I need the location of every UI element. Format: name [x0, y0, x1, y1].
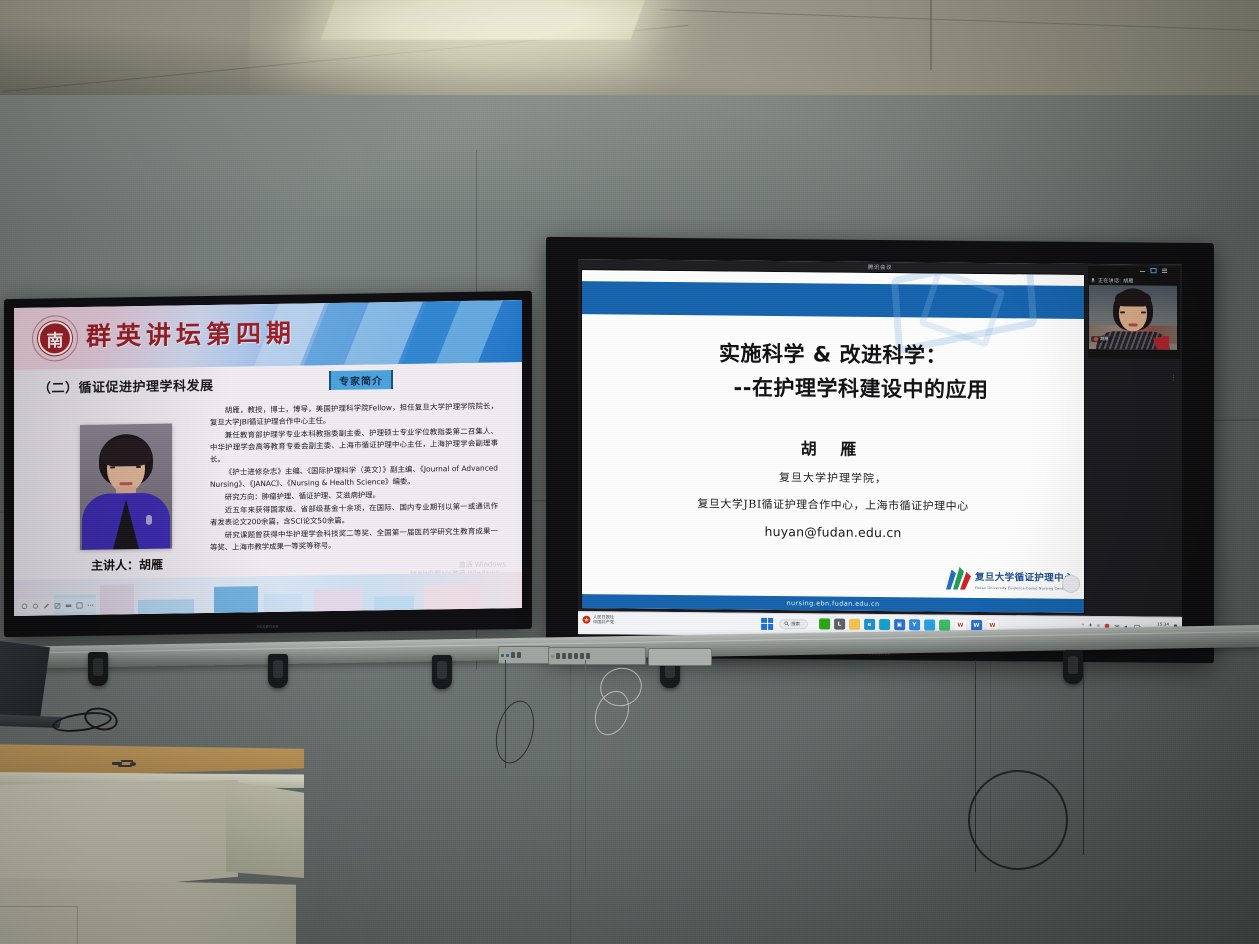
eraser-icon[interactable] [65, 602, 72, 609]
slide-section-title: （二）循证促进护理学科发展 [38, 375, 214, 397]
speaking-label: 正在讲话: 胡雁 [1098, 277, 1134, 284]
mount-bracket [1063, 650, 1083, 684]
speaker-portrait [80, 424, 172, 550]
laser-pointer-icon[interactable] [32, 602, 39, 609]
bio-paragraph: 近五年来获得国家级、省部级基金十余项，在国际、国内专业期刊以第一或通讯作者发表论… [210, 500, 498, 528]
lectern [0, 728, 322, 944]
slide-corner-badge [1062, 575, 1080, 593]
app-weixin[interactable] [819, 618, 830, 629]
slide-email: huyan@fudan.edu.cn [582, 522, 1084, 542]
app-file-explorer[interactable] [849, 619, 860, 630]
mic-muted-icon [1094, 337, 1098, 341]
participant-rail [1088, 364, 1180, 620]
slide-footer-url: nursing.ebn.fudan.edu.cn [786, 599, 879, 608]
av-connector-panel [648, 648, 712, 666]
slide-footer-url-band: nursing.ebn.fudan.edu.cn [582, 594, 1084, 613]
emblem-icon [582, 615, 591, 624]
slide-author: 胡 雁 [582, 433, 1084, 462]
app-explorer[interactable]: L [834, 619, 845, 630]
maximize-icon[interactable] [1150, 268, 1157, 274]
search-icon[interactable] [784, 621, 789, 626]
center-logo: 复旦大学循证护理中心 Fudan University Evidence-bas… [946, 566, 1074, 591]
pointer-icon[interactable] [21, 602, 28, 609]
slide-affiliation-2: 复旦大学JBI循证护理合作中心，上海市循证护理中心 [582, 494, 1084, 515]
more-icon[interactable] [87, 601, 94, 608]
taskbar-branding: 人民日报社 中国共产党 [582, 615, 614, 625]
menu-icon[interactable] [1161, 268, 1168, 274]
left-display-brand: Hisense [257, 624, 279, 630]
mount-bracket [432, 655, 452, 689]
logo-text-en: Fudan University Evidence-based Nursing … [975, 585, 1074, 590]
right-display-screen[interactable]: 腾讯会议 实施科学 & 改进科学： --在护理学科建设中的应用 胡 雁 复旦大学… [578, 259, 1182, 640]
app-wps-note[interactable] [939, 620, 950, 631]
window-controls[interactable] [1139, 267, 1168, 273]
wall-cable [1083, 665, 1084, 855]
expert-profile-badge: 专家简介 [329, 370, 393, 390]
laptop-screen [0, 640, 50, 722]
meeting-window-title: 腾讯会议 [868, 263, 892, 271]
participant-video-tile[interactable]: 胡雁 [1089, 285, 1177, 350]
start-icon[interactable] [761, 617, 773, 629]
lectern-side [226, 774, 304, 878]
participant-video-panel[interactable]: 正在讲话: 胡雁 胡雁 [1088, 266, 1180, 359]
logo-text-cn: 复旦大学循证护理中心 [975, 571, 1074, 583]
key-ring [112, 758, 138, 770]
bio-paragraph: 胡雁，教授，博士，博导，美国护理科学院Fellow，担任复旦大学护理学院院长，复… [210, 400, 498, 428]
app-tencent-meeting[interactable]: Y [909, 619, 920, 630]
bio-paragraph: 研究课题曾获得中华护理学会科技奖二等奖、全国第一届医药学研究生教育成果一等奖、上… [210, 525, 498, 553]
app-edge[interactable]: e [864, 619, 875, 630]
presentation-toolbar[interactable] [17, 598, 98, 613]
branding-line2: 中国共产党 [593, 620, 614, 625]
laptop[interactable] [0, 640, 54, 732]
slide-title-line2: --在护理学科建设中的应用 [582, 370, 1084, 405]
slide-overview-icon[interactable] [76, 601, 83, 608]
app-meeting-circle[interactable] [924, 619, 935, 630]
shared-slide-stage[interactable]: 实施科学 & 改进科学： --在护理学科建设中的应用 胡 雁 复旦大学护理学院，… [582, 270, 1084, 613]
more-vertical-icon[interactable]: ⋮ [1170, 377, 1177, 380]
search-placeholder: 搜索 [791, 621, 800, 627]
ceiling-light-panel [321, 0, 650, 40]
left-display[interactable]: 南 群英讲坛第四期 （二）循证促进护理学科发展 专家简介 [4, 291, 532, 637]
participant-name-chip: 胡雁 [1091, 336, 1111, 342]
speaking-indicator: 正在讲话: 胡雁 [1091, 277, 1134, 284]
mount-bracket [88, 652, 108, 686]
pen-icon[interactable] [43, 602, 50, 609]
wall-cable [585, 660, 586, 875]
lectern-panel-seam [0, 906, 78, 944]
mount-bracket [268, 654, 288, 688]
minimize-icon[interactable] [1139, 267, 1146, 273]
tencent-meeting-window[interactable]: 腾讯会议 实施科学 & 改进科学： --在护理学科建设中的应用 胡 雁 复旦大学… [578, 259, 1182, 640]
microphone-icon [1091, 278, 1095, 283]
fudan-ebn-logo-icon [946, 566, 972, 590]
bio-paragraph: 《护士进修杂志》主编、《国际护理科学（英文）》副主编、《Journal of A… [210, 462, 498, 490]
expert-bio-text: 胡雁，教授，博士，博导，美国护理科学院Fellow，担任复旦大学护理学院院长，复… [210, 400, 498, 554]
powerpoint-slide-left[interactable]: 南 群英讲坛第四期 （二）循证促进护理学科发展 专家简介 [14, 300, 522, 616]
slide-header [582, 270, 1084, 319]
search-input[interactable]: 搜索 [779, 619, 808, 629]
slide-affiliation-1: 复旦大学护理学院， [582, 467, 1084, 488]
bio-paragraph: 兼任教育部护理学专业本科教指委副主委、护理硕士专业学位教指委第二召集人、中华护理… [210, 425, 498, 465]
participant-name: 胡雁 [1100, 336, 1108, 342]
app-ppt-share[interactable]: ▣ [894, 619, 905, 630]
right-display[interactable]: 腾讯会议 实施科学 & 改进科学： --在护理学科建设中的应用 胡 雁 复旦大学… [546, 237, 1214, 663]
av-connector-panel [548, 647, 646, 665]
lecture-room-photo: 南 群英讲坛第四期 （二）循证促进护理学科发展 专家简介 [0, 0, 1259, 944]
slide-banner-title: 群英讲坛第四期 [86, 314, 296, 353]
speaker-caption: 主讲人：胡雁 [60, 555, 194, 574]
highlighter-icon[interactable] [54, 602, 61, 609]
left-display-screen[interactable]: 南 群英讲坛第四期 （二）循证促进护理学科发展 专家简介 [14, 300, 522, 616]
seal-glyph: 南 [38, 321, 72, 356]
app-browser[interactable] [879, 619, 890, 630]
slide-title-line1: 实施科学 & 改进科学： [582, 336, 1084, 371]
